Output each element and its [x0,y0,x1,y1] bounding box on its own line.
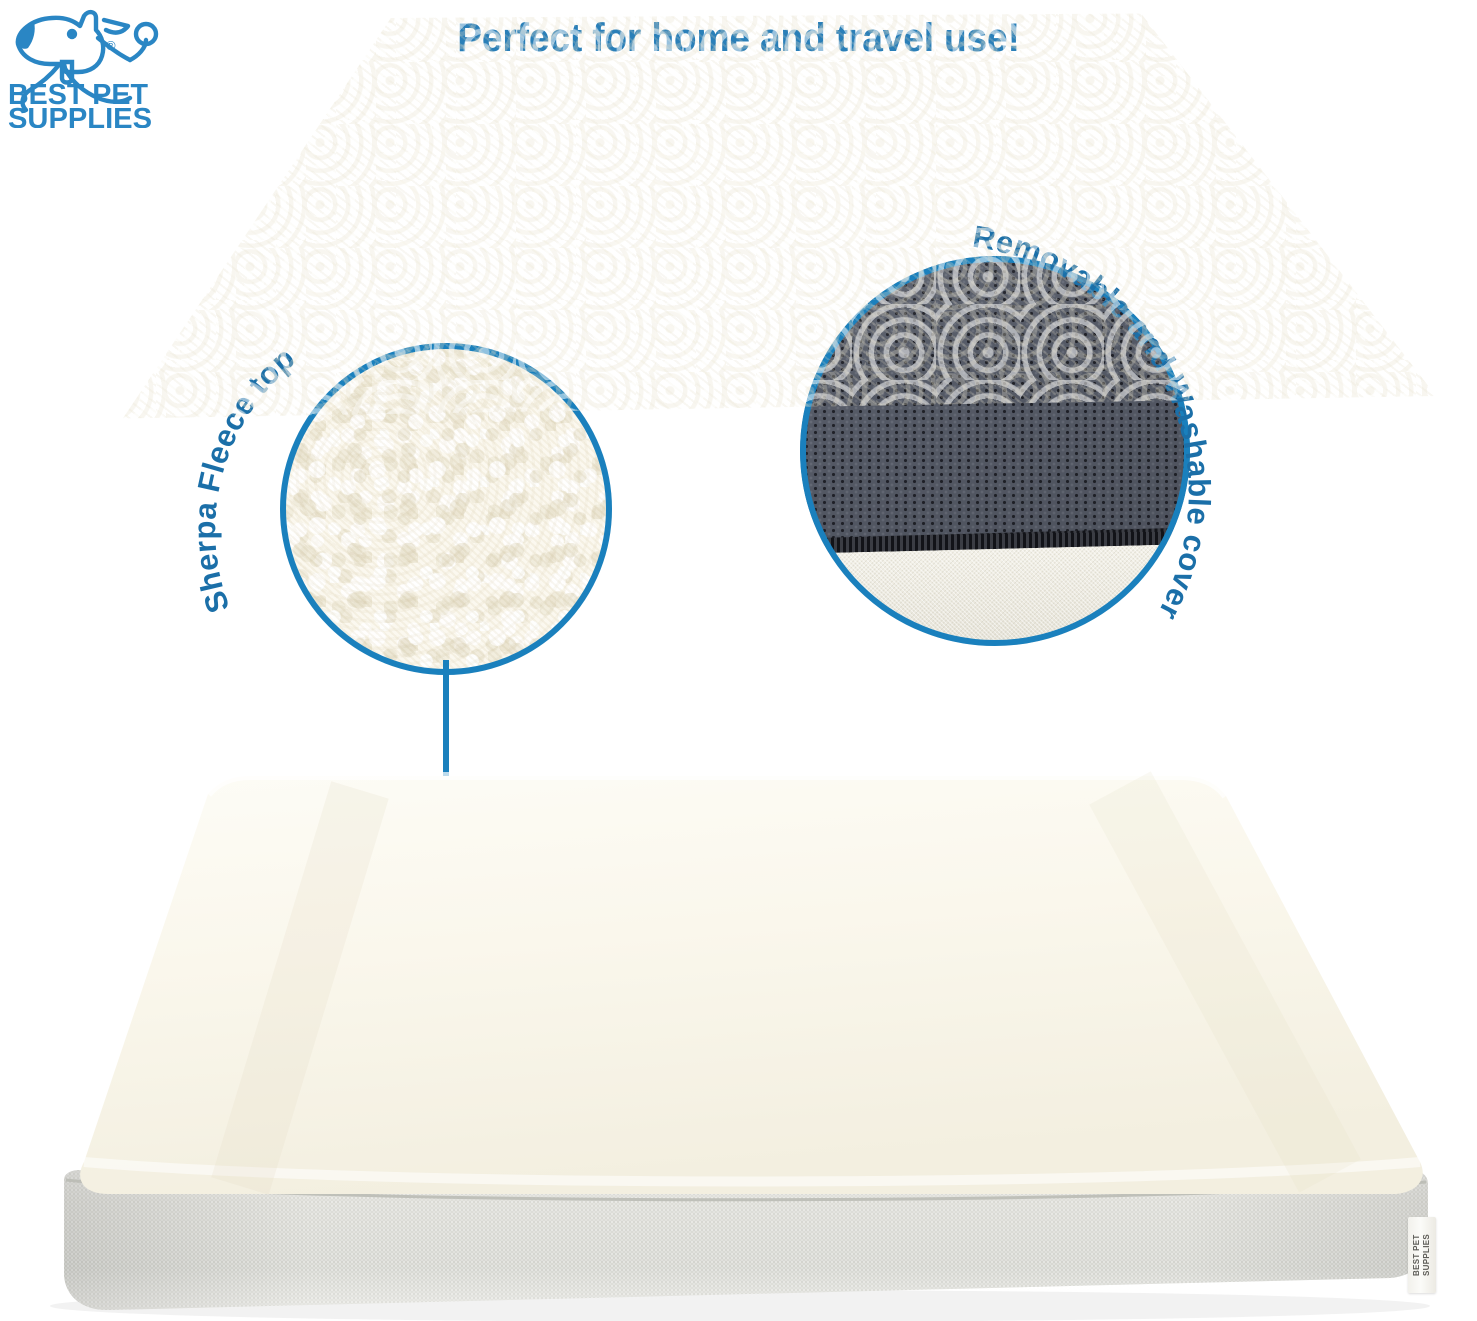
brand-fabric-tag: BEST PET SUPPLIES [1408,1217,1436,1293]
product-feature-image: ® BEST PET SUPPLIES Perfect for home and… [0,0,1477,1321]
brand-name-line-2: SUPPLIES [8,103,152,128]
callout-sherpa-fleece [280,343,612,675]
bed-tag-text: BEST PET SUPPLIES [1412,1234,1432,1276]
sherpa-swatch [280,343,612,675]
cover-swatch [800,256,1190,646]
callout-removable-washable-cover [800,256,1190,646]
page-headline: Perfect for home and travel use! [52,16,1426,61]
cover-base-fabric [800,543,1190,646]
mesh-fabric [800,256,1190,549]
product-dog-bed [0,770,1477,1321]
